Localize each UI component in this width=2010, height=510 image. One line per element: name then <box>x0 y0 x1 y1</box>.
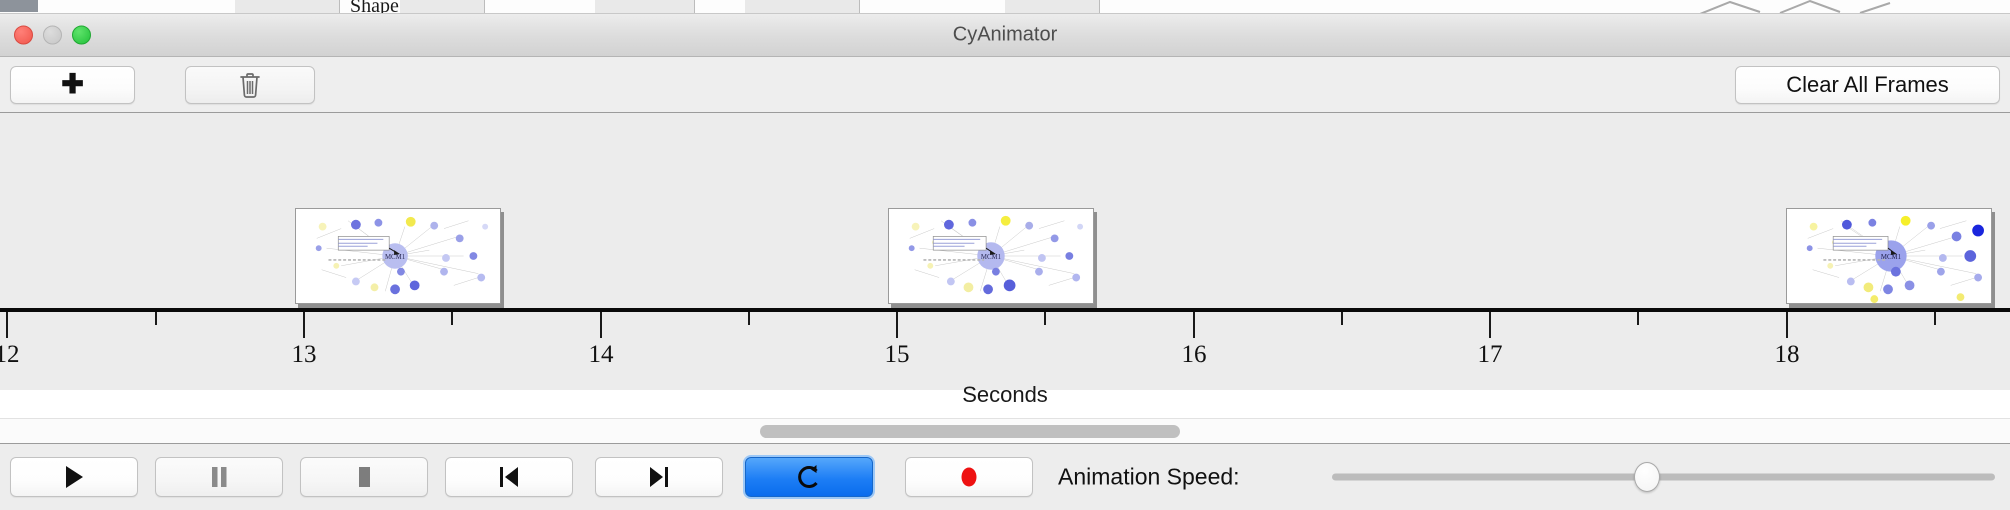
loop-button[interactable] <box>745 457 873 497</box>
delete-frame-button[interactable] <box>185 66 315 104</box>
ruler-tick <box>1193 312 1195 338</box>
keyframe-thumbnail-3[interactable]: MCM1 <box>1786 208 1992 304</box>
pause-icon <box>207 463 231 491</box>
ruler-tick-label: 15 <box>885 341 910 369</box>
background-field-2 <box>400 0 485 14</box>
ruler-tick <box>748 312 750 325</box>
background-window-strip: Shape <box>0 0 2010 14</box>
stop-icon <box>352 463 376 491</box>
record-icon <box>956 463 982 491</box>
ruler-tick-label: 17 <box>1478 341 1503 369</box>
ruler-tick-label: 16 <box>1182 341 1207 369</box>
ruler-tick-label: 18 <box>1775 341 1800 369</box>
ruler-tick-label: 12 <box>0 341 20 369</box>
ruler-tick <box>896 312 898 338</box>
ruler-tick <box>155 312 157 325</box>
timeline-scrollbar[interactable] <box>0 418 2010 444</box>
skip-start-button[interactable] <box>445 457 573 497</box>
ruler-tick-label: 13 <box>292 341 317 369</box>
clear-all-frames-button[interactable]: Clear All Frames <box>1735 66 2000 104</box>
network-thumbnail-graphic: MCM1 <box>889 209 1093 303</box>
stop-button[interactable] <box>300 457 428 497</box>
ruler-tick <box>600 312 602 338</box>
ruler-baseline <box>0 308 2010 312</box>
animation-speed-label: Animation Speed: <box>1058 464 1240 491</box>
background-network-edges <box>1700 0 1900 14</box>
slider-track <box>1332 474 1995 481</box>
frame-toolbar: ✚ Clear All Frames <box>0 57 2010 113</box>
ruler-tick-label: 14 <box>589 341 614 369</box>
background-label-shape: Shape <box>350 0 399 14</box>
axis-title-seconds: Seconds <box>0 382 2010 408</box>
loop-icon <box>795 462 823 492</box>
ruler-tick <box>1786 312 1788 338</box>
background-titlebar-fragment <box>0 0 38 12</box>
ruler-tick <box>1637 312 1639 325</box>
timeline-scrollbar-thumb[interactable] <box>760 425 1180 438</box>
timeline-ruler[interactable]: 12131415161718 <box>0 308 2010 390</box>
background-field-5 <box>1005 0 1100 14</box>
background-field-4 <box>745 0 860 14</box>
keyframe-strip[interactable]: MCM1 <box>0 113 2010 308</box>
network-thumbnail-graphic: MCM1 <box>1787 209 1991 303</box>
ruler-tick <box>1489 312 1491 338</box>
play-button[interactable] <box>10 457 138 497</box>
background-field-3 <box>595 0 695 14</box>
ruler-tick <box>1044 312 1046 325</box>
pause-button[interactable] <box>155 457 283 497</box>
svg-text:MCM1: MCM1 <box>385 254 406 261</box>
background-field-1 <box>235 0 340 14</box>
plus-icon: ✚ <box>61 71 84 98</box>
window-titlebar: CyAnimator <box>0 14 2010 57</box>
animation-speed-slider[interactable] <box>1332 464 1995 490</box>
window-title: CyAnimator <box>0 24 2010 47</box>
ruler-tick <box>1341 312 1343 325</box>
ruler-tick <box>1934 312 1936 325</box>
trash-icon <box>238 71 262 99</box>
keyframe-thumbnail-2[interactable]: MCM1 <box>888 208 1094 304</box>
ruler-tick <box>303 312 305 338</box>
skip-forward-icon <box>646 463 672 491</box>
network-thumbnail-graphic: MCM1 <box>296 209 500 303</box>
record-button[interactable] <box>905 457 1033 497</box>
playback-controls: Animation Speed: <box>0 444 2010 510</box>
play-icon <box>61 463 87 491</box>
add-frame-button[interactable]: ✚ <box>10 66 135 104</box>
skip-back-icon <box>496 463 522 491</box>
ruler-tick <box>6 312 8 338</box>
skip-end-button[interactable] <box>595 457 723 497</box>
ruler-tick <box>451 312 453 325</box>
keyframe-thumbnail-1[interactable]: MCM1 <box>295 208 501 304</box>
slider-thumb[interactable] <box>1634 462 1660 492</box>
